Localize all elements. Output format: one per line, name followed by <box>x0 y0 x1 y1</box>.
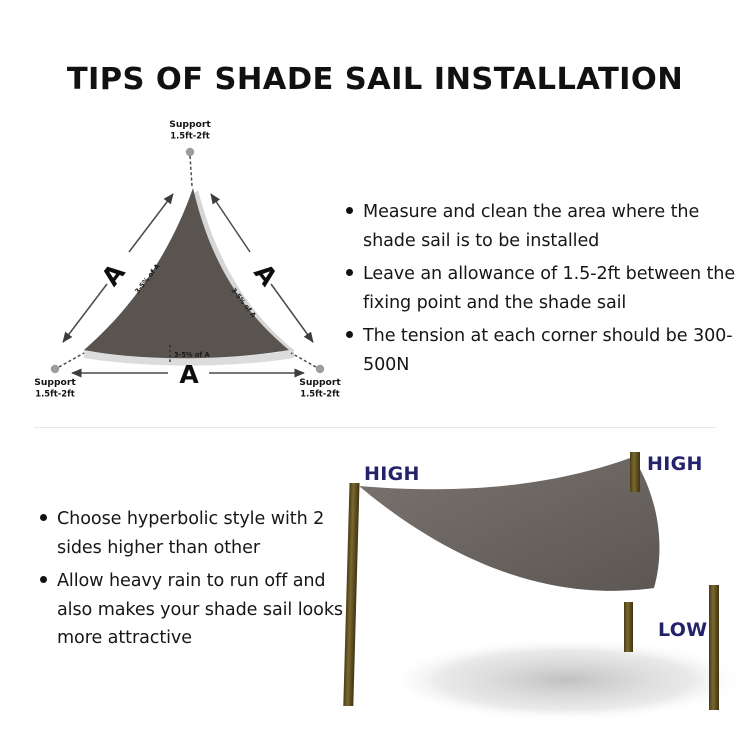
tips-poster: TIPS OF SHADE SAIL INSTALLATION <box>0 0 750 750</box>
support-label-bottom-left: Support 1.5ft-2ft <box>34 377 76 399</box>
pole-middle-rear <box>624 602 633 652</box>
bullet-dot-icon <box>346 269 353 276</box>
installation-tips-top-list: Measure and clean the area where the sha… <box>346 198 742 384</box>
support-label-top: Support 1.5ft-2ft <box>169 119 211 141</box>
list-item: Leave an allowance of 1.5-2ft between th… <box>346 260 742 317</box>
pole-right-front <box>709 585 719 710</box>
pole-left <box>343 483 359 706</box>
svg-text:1.5ft-2ft: 1.5ft-2ft <box>300 389 339 399</box>
dimension-label-bottom: A <box>179 360 199 389</box>
svg-text:Support: Support <box>299 377 341 388</box>
bullet-dot-icon <box>346 331 353 338</box>
list-item: The tension at each corner should be 300… <box>346 322 742 379</box>
list-item: Allow heavy rain to run off and also mak… <box>40 567 350 653</box>
installation-tips-bottom-list: Choose hyperbolic style with 2 sides hig… <box>40 505 350 658</box>
label-high-left: HIGH <box>364 463 420 485</box>
svg-text:Support: Support <box>169 119 211 130</box>
tip-text: Measure and clean the area where the sha… <box>363 198 742 255</box>
bullet-dot-icon <box>40 514 47 521</box>
svg-text:Support: Support <box>34 377 76 388</box>
pole-right-rear <box>630 452 640 492</box>
tip-text: Leave an allowance of 1.5-2ft between th… <box>363 260 742 317</box>
list-item: Measure and clean the area where the sha… <box>346 198 742 255</box>
dimension-label-left: A <box>96 258 131 292</box>
section-divider <box>34 427 716 428</box>
bullet-dot-icon <box>346 207 353 214</box>
dimension-label-right: A <box>248 258 283 292</box>
triangle-shade-sail-diagram: A 3-5% of A A 3-5% of A A 3-5% of A <box>28 112 358 412</box>
list-item: Choose hyperbolic style with 2 sides hig… <box>40 505 350 562</box>
tip-text: Allow heavy rain to run off and also mak… <box>57 567 350 653</box>
label-low-right: LOW <box>658 619 707 641</box>
tip-text: Choose hyperbolic style with 2 sides hig… <box>57 505 350 562</box>
page-title: TIPS OF SHADE SAIL INSTALLATION <box>0 62 750 97</box>
label-high-right: HIGH <box>647 453 703 475</box>
support-label-bottom-right: Support 1.5ft-2ft <box>299 377 341 399</box>
curve-label-bottom: 3-5% of A <box>174 351 211 359</box>
tip-text: The tension at each corner should be 300… <box>363 322 742 379</box>
svg-text:1.5ft-2ft: 1.5ft-2ft <box>35 389 74 399</box>
bullet-dot-icon <box>40 576 47 583</box>
svg-text:1.5ft-2ft: 1.5ft-2ft <box>170 131 209 141</box>
ground-shadow <box>386 638 746 722</box>
hyperbolic-shade-sail-diagram: HIGH HIGH LOW <box>336 430 750 730</box>
